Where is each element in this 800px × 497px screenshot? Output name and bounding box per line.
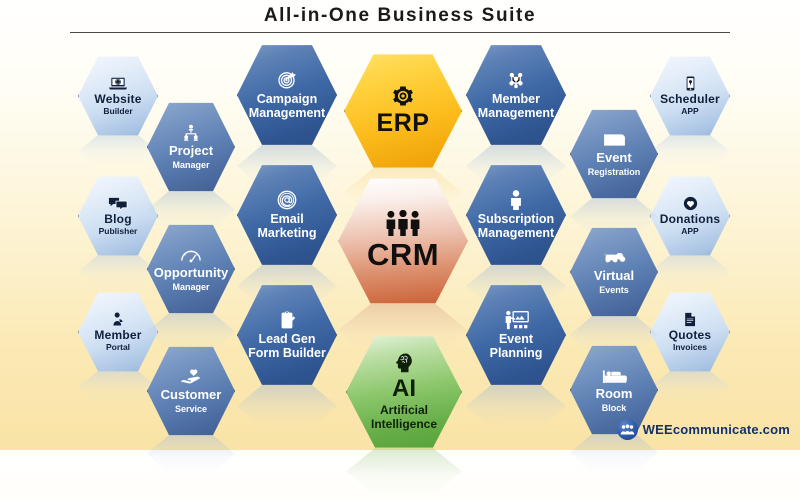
- hex-label-primary: Opportunity: [154, 266, 228, 281]
- hex-label-primary: Blog: [104, 213, 131, 226]
- hex-label-secondary: Form Builder: [248, 346, 326, 360]
- hex-label-secondary: Builder: [103, 107, 132, 117]
- hex-label-secondary: Invoices: [673, 343, 707, 353]
- hex-reflection: [78, 135, 158, 169]
- person-icon: [509, 190, 523, 210]
- hex-ai[interactable]: AIArtificialIntelligence: [346, 334, 462, 450]
- hex-label-primary: AI: [392, 376, 416, 403]
- hex-event-planning[interactable]: EventPlanning: [466, 283, 566, 387]
- hex-reflection: [237, 385, 337, 429]
- hex-member-portal[interactable]: MemberPortal: [78, 291, 158, 373]
- hex-label-primary: Customer: [161, 388, 222, 403]
- three-people-icon: [384, 210, 422, 236]
- hex-label-primary: Project: [169, 144, 213, 159]
- hex-label-secondary: Service: [175, 404, 207, 414]
- hex-label-primary: Website: [94, 93, 141, 106]
- hex-lead-gen-form-builder[interactable]: Lead GenForm Builder: [237, 283, 337, 387]
- hand-heart-icon: [180, 368, 203, 386]
- hex-reflection: [78, 371, 158, 405]
- hex-label-secondary: Management: [478, 106, 554, 120]
- hex-label-primary: Campaign: [257, 92, 317, 106]
- hex-member-management[interactable]: MemberManagement: [466, 43, 566, 147]
- hex-blog-publisher[interactable]: BlogPublisher: [78, 175, 158, 257]
- hex-reflection: [650, 255, 730, 289]
- presenter-board-icon: [504, 310, 529, 330]
- org-chart-icon: [182, 124, 200, 142]
- hex-reflection: [466, 385, 566, 429]
- hex-label-secondary: Marketing: [257, 226, 316, 240]
- hex-opportunity-manager[interactable]: OpportunityManager: [147, 223, 235, 315]
- hex-label-primary: Subscription: [478, 212, 554, 226]
- hex-project-manager[interactable]: ProjectManager: [147, 101, 235, 193]
- hex-label-primary: ERP: [377, 109, 430, 137]
- hex-customer-service[interactable]: CustomerService: [147, 345, 235, 437]
- hex-label-secondary: Registration: [588, 167, 641, 177]
- at-sign-icon: [277, 190, 297, 210]
- hex-label-primary: Donations: [660, 213, 720, 226]
- hex-website-builder[interactable]: WebsiteBuilder: [78, 55, 158, 137]
- heart-circle-icon: [683, 196, 698, 211]
- ticket-icon: [603, 131, 626, 149]
- people-group-icon: [617, 419, 638, 440]
- clipboard-pen-icon: [277, 310, 297, 330]
- gauge-icon: [180, 246, 202, 264]
- document-icon: [684, 312, 696, 327]
- hex-label-primary: Email: [270, 212, 303, 226]
- hex-label-secondary: Events: [599, 285, 629, 295]
- hex-label-secondary: Manager: [172, 282, 209, 292]
- hex-label-primary: Scheduler: [660, 93, 720, 106]
- hex-erp[interactable]: ERP: [344, 52, 462, 170]
- hex-email-marketing[interactable]: EmailMarketing: [237, 163, 337, 267]
- hex-subscription-management[interactable]: SubscriptionManagement: [466, 163, 566, 267]
- page-title: All-in-One Business Suite: [0, 5, 800, 27]
- network-nodes-icon: [506, 70, 526, 90]
- brand-name: WEEcommunicate.com: [643, 422, 790, 437]
- hex-label-secondary: APP: [681, 107, 698, 117]
- title-divider: [70, 32, 730, 33]
- hex-crm[interactable]: CRM: [338, 176, 468, 306]
- hex-donations-app[interactable]: DonationsAPP: [650, 175, 730, 257]
- user-silhouette-icon: [112, 312, 124, 327]
- bed-icon: [602, 367, 627, 385]
- hex-label-primary: Member: [492, 92, 540, 106]
- hex-reflection: [346, 448, 462, 497]
- hex-label-secondary: Publisher: [99, 227, 138, 237]
- brand-logo: WEEcommunicate.com: [617, 419, 790, 440]
- hex-reflection: [650, 135, 730, 169]
- hex-label-secondary: Planning: [490, 346, 543, 360]
- hex-label-primary: Room: [596, 387, 633, 402]
- smartphone-icon: [686, 76, 695, 91]
- hex-reflection: [147, 191, 235, 230]
- hex-label-secondary: Artificial: [380, 404, 428, 417]
- hex-label-primary: Lead Gen: [259, 332, 316, 346]
- hex-event-registration[interactable]: EventRegistration: [570, 108, 658, 200]
- hex-label-primary: CRM: [367, 238, 439, 273]
- hex-scheduler-app[interactable]: SchedulerAPP: [650, 55, 730, 137]
- gear-icon: [392, 85, 414, 107]
- hex-quotes-invoices[interactable]: QuotesInvoices: [650, 291, 730, 373]
- hex-reflection: [650, 371, 730, 405]
- hex-label-primary: Virtual: [594, 269, 634, 284]
- hex-label-secondary: Manager: [172, 160, 209, 170]
- hex-virtual-events[interactable]: VirtualEvents: [570, 226, 658, 318]
- hex-label-primary: Event: [499, 332, 533, 346]
- vr-headset-icon: [603, 249, 626, 267]
- chat-bubbles-icon: [108, 196, 128, 211]
- hex-label-primary: Event: [596, 151, 631, 166]
- target-radar-icon: [277, 70, 297, 90]
- hex-campaign-management[interactable]: CampaignManagement: [237, 43, 337, 147]
- brain-head-icon: [393, 352, 415, 374]
- hex-label-secondary: Block: [602, 403, 627, 413]
- hex-label-secondary: Management: [249, 106, 325, 120]
- hex-label-primary: Member: [94, 329, 141, 342]
- hex-label-secondary: Intelligence: [371, 418, 437, 431]
- hex-reflection: [147, 313, 235, 352]
- hex-label-secondary: Management: [478, 226, 554, 240]
- hex-label-secondary: APP: [681, 227, 698, 237]
- diagram-canvas: All-in-One Business Suite WebsiteBuilder…: [0, 0, 800, 450]
- hex-reflection: [78, 255, 158, 289]
- laptop-icon: [108, 76, 128, 91]
- hex-label-secondary: Portal: [106, 343, 130, 353]
- hex-label-primary: Quotes: [669, 329, 712, 342]
- hex-reflection: [147, 435, 235, 474]
